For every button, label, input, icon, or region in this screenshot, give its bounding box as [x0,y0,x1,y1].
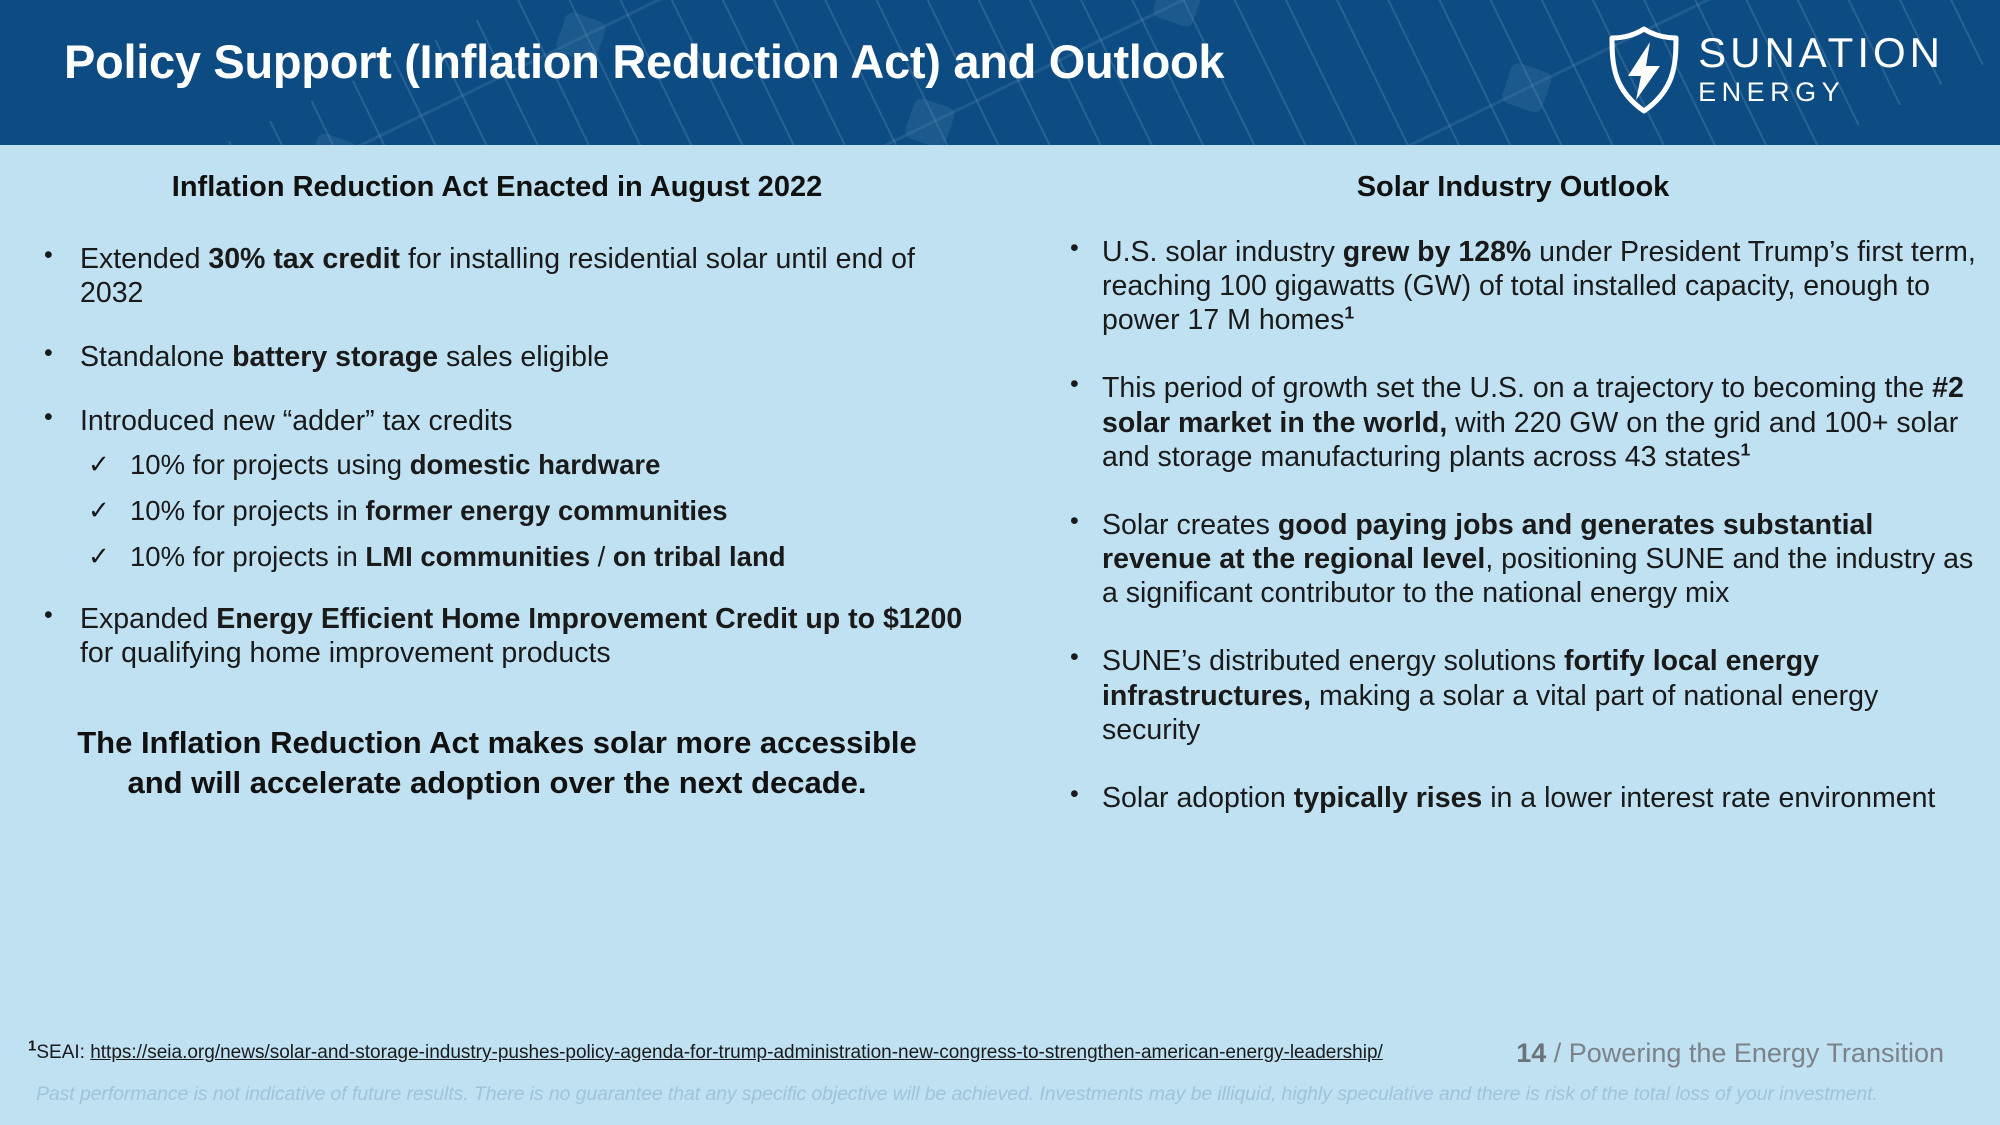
body-text: 10% for projects in [130,541,365,572]
sub-bullet-list: ✓10% for projects using domestic hardwar… [80,448,972,573]
bullet-text: U.S. solar industry grew by 128% under P… [1102,236,1976,336]
checkmark-icon: ✓ [88,541,110,572]
body-text: U.S. solar industry [1102,236,1343,268]
bullet-text: Extended 30% tax credit for installing r… [80,243,915,309]
bullet-item: Extended 30% tax credit for installing r… [22,243,972,311]
shield-lightning-bolt-icon [1606,26,1682,114]
sub-bullet-item: ✓10% for projects in LMI communities / o… [80,540,972,574]
bullet-text: Introduced new “adder” tax credits [80,405,512,437]
left-column-heading: Inflation Reduction Act Enacted in Augus… [22,170,972,205]
legal-disclaimer: Past performance is not indicative of fu… [36,1083,1976,1106]
closing-statement: The Inflation Reduction Act makes solar … [22,723,972,804]
body-text: Solar creates [1102,509,1278,541]
logo-wordmark: SUNATION ENERGY [1698,32,1944,108]
page-footer-info: 14 / Powering the Energy Transition [1516,1038,1944,1069]
footnote-source: 1SEAI: https://seia.org/news/solar-and-s… [28,1042,1383,1064]
page-tagline: / Powering the Energy Transition [1554,1038,1944,1068]
sunation-energy-logo: SUNATION ENERGY [1606,24,1944,116]
bullet-item: U.S. solar industry grew by 128% under P… [1048,235,1978,338]
emphasis-text: battery storage [232,341,438,373]
bullet-text: This period of growth set the U.S. on a … [1102,372,1964,472]
bullet-item: Standalone battery storage sales eligibl… [22,341,972,375]
right-column: Solar Industry Outlook U.S. solar indust… [1048,170,1978,849]
page-number: 14 [1516,1038,1546,1068]
bullet-item: Solar creates good paying jobs and gener… [1048,508,1978,611]
body-text: This period of growth set the U.S. on a … [1102,372,1932,404]
body-text: Solar adoption [1102,782,1294,814]
logo-name-sub: ENERGY [1698,78,1944,108]
slide-header: Policy Support (Inflation Reduction Act)… [0,0,2000,145]
bullet-text: Solar creates good paying jobs and gener… [1102,509,1973,609]
left-column: Inflation Reduction Act Enacted in Augus… [22,170,972,803]
body-text: 10% for projects in [130,495,365,526]
bullet-item: SUNE’s distributed energy solutions fort… [1048,644,1978,747]
bullet-text: SUNE’s distributed energy solutions fort… [1102,645,1878,745]
footnote-url-link[interactable]: https://seia.org/news/solar-and-storage-… [90,1042,1383,1063]
body-text: Introduced new “adder” tax credits [80,405,512,437]
body-text: SUNE’s distributed energy solutions [1102,645,1564,677]
body-text: Extended [80,243,208,275]
bullet-item: This period of growth set the U.S. on a … [1048,371,1978,474]
emphasis-text: LMI communities [365,541,590,572]
bullet-text: Expanded Energy Efficient Home Improveme… [80,603,962,669]
emphasis-text: on tribal land [613,541,786,572]
emphasis-text: domestic hardware [410,449,661,480]
body-text: 10% for projects using [130,449,410,480]
page-title: Policy Support (Inflation Reduction Act)… [64,34,1224,89]
bullet-text: Solar adoption typically rises in a lowe… [1102,782,1935,814]
sub-bullet-text: 10% for projects using domestic hardware [130,449,660,480]
right-column-heading: Solar Industry Outlook [1048,170,1978,205]
emphasis-text: 30% tax credit [208,243,400,275]
checkmark-icon: ✓ [88,449,110,480]
bullet-item: Expanded Energy Efficient Home Improveme… [22,603,972,671]
emphasis-text: grew by 128% [1343,236,1532,268]
body-text: Expanded [80,603,216,635]
sub-bullet-item: ✓10% for projects using domestic hardwar… [80,448,972,482]
footnote-marker: 1 [1740,439,1750,459]
emphasis-text: typically rises [1294,782,1483,814]
body-text: for qualifying home improvement products [80,637,611,669]
footnote-label: SEAI: [36,1042,90,1063]
sub-bullet-text: 10% for projects in former energy commun… [130,495,728,526]
right-bullet-list: U.S. solar industry grew by 128% under P… [1048,235,1978,815]
body-text: sales eligible [438,341,609,373]
bullet-item: Solar adoption typically rises in a lowe… [1048,781,1978,815]
body-text: / [590,541,613,572]
footnote-marker: 1 [1344,303,1354,323]
sub-bullet-text: 10% for projects in LMI communities / on… [130,541,786,572]
slide-policy-support: Policy Support (Inflation Reduction Act)… [0,0,2000,1125]
emphasis-text: former energy communities [365,495,727,526]
left-bullet-list: Extended 30% tax credit for installing r… [22,243,972,671]
emphasis-text: Energy Efficient Home Improvement Credit… [216,603,962,635]
checkmark-icon: ✓ [88,495,110,526]
bullet-text: Standalone battery storage sales eligibl… [80,341,609,373]
body-text: in a lower interest rate environment [1482,782,1935,814]
sub-bullet-item: ✓10% for projects in former energy commu… [80,494,972,528]
logo-name-main: SUNATION [1698,32,1944,75]
bullet-item: Introduced new “adder” tax credits✓10% f… [22,405,972,574]
body-text: Standalone [80,341,232,373]
